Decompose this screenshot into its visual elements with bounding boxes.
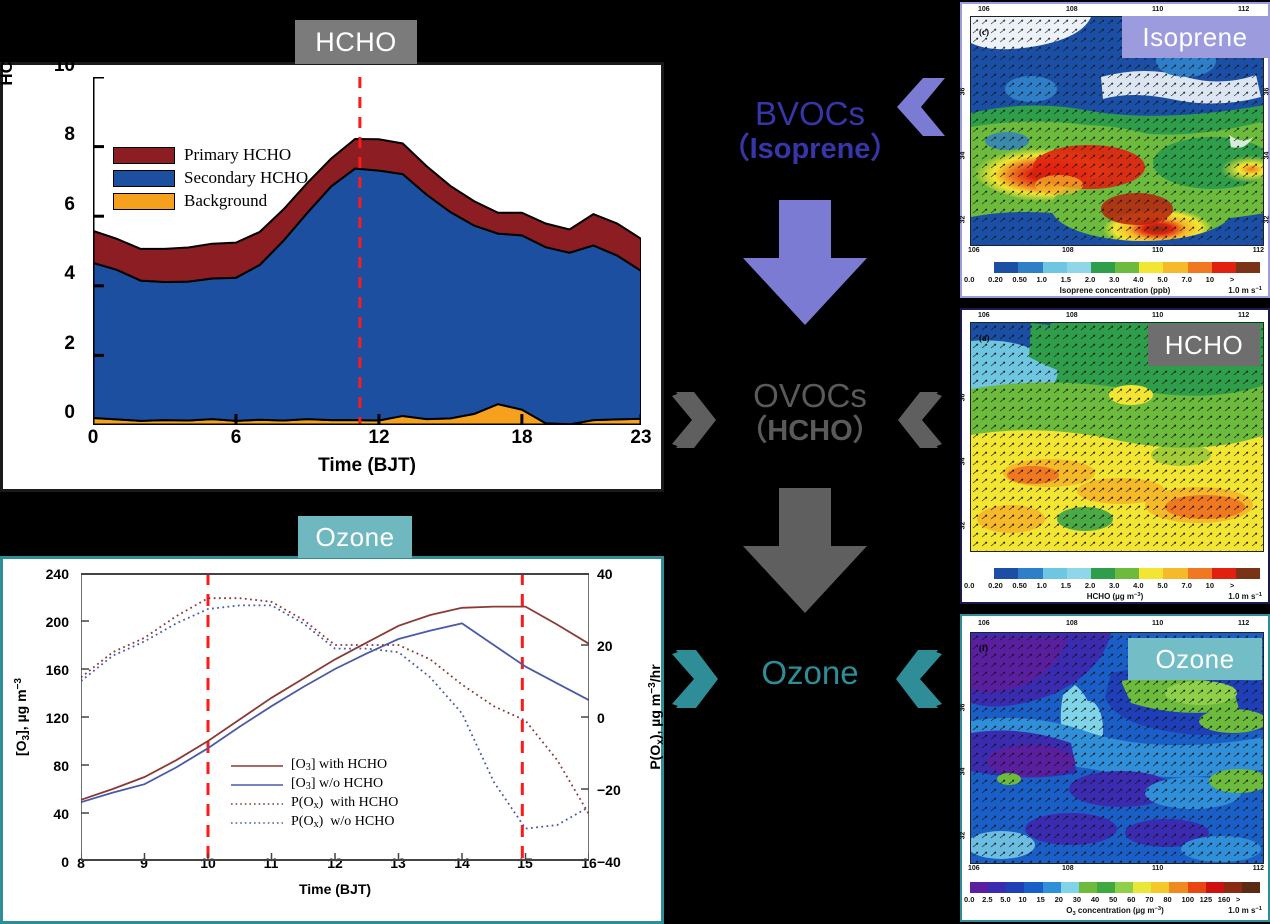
legend-key-pox-wo-hcho xyxy=(231,816,283,828)
isoprene-map-banner-label: Isoprene xyxy=(1142,22,1247,53)
cbar-hcho-swatch-3 xyxy=(1043,568,1067,579)
cbarlbl-ozone-6: 30 xyxy=(1073,895,1081,904)
cbarlbl-ozone-3: 10 xyxy=(1018,895,1026,904)
cbarlbl-isoprene-4: 1.5 xyxy=(1061,275,1071,284)
cbar-hcho-swatch-7 xyxy=(1139,568,1163,579)
cbarlbl-hcho-0: 0.0 xyxy=(964,581,974,590)
ozone-map-wind-ref: 1.0 m s−1 xyxy=(1228,906,1262,915)
hcho-ytick-6: 6 xyxy=(41,194,75,216)
ozone-map-banner-label: Ozone xyxy=(1155,644,1234,675)
hcho-xtick-12: 12 xyxy=(359,427,399,449)
cbarlbl-ozone-12: 100 xyxy=(1182,895,1195,904)
hcho-y-axis-title: HCHO concentration (µg m−3) xyxy=(0,0,17,117)
hcho-lat-36: 36 xyxy=(959,394,966,402)
legend-item-o3-wo-hcho: [O3] w/o HCHO xyxy=(231,774,398,793)
hcho-chart-banner-label: HCHO xyxy=(315,27,397,58)
cbar-ozone-swatch-1 xyxy=(988,882,1006,893)
cbar-isoprene-swatch-7 xyxy=(1139,262,1163,273)
cbarlbl-ozone-7: 40 xyxy=(1091,895,1099,904)
cbar-hcho-swatch-1 xyxy=(994,568,1018,579)
chevron-left-ozone-map-icon xyxy=(896,650,942,708)
cbar-hcho-swatch-5 xyxy=(1091,568,1115,579)
cbarlbl-hcho-10: 10 xyxy=(1206,581,1214,590)
hcho-xtick-6: 6 xyxy=(216,427,256,449)
hcho-ytick-4: 4 xyxy=(41,263,75,285)
ozone-diurnal-chart: [O3], µg m−3 P(Ox), µg m−3/hr Time (BJT)… xyxy=(0,556,664,924)
ozone-chart-banner-label: Ozone xyxy=(315,522,394,553)
ozone-lat-32: 32 xyxy=(959,832,966,840)
cbarlbl-ozone-4: 15 xyxy=(1037,895,1045,904)
ozone-ytick-120: 120 xyxy=(31,710,69,726)
hcho-xtick-23: 23 xyxy=(621,427,661,449)
cbarlbl-ozone-11: 80 xyxy=(1163,895,1171,904)
ozone-colorbar xyxy=(970,882,1260,893)
ozone-lat-34: 34 xyxy=(959,768,966,776)
cbarlbl-ozone-14: 160 xyxy=(1218,895,1231,904)
cbar-isoprene-swatch-5 xyxy=(1091,262,1115,273)
legend-label-primary-hcho: Primary HCHO xyxy=(184,145,291,165)
cbarlbl-ozone-1: 2.5 xyxy=(982,895,992,904)
ozone-ytick-240: 240 xyxy=(31,566,69,582)
chevron-right-hcho-icon xyxy=(672,392,716,448)
isoprene-wind-ref: 1.0 m s−1 xyxy=(1228,286,1262,295)
cbarlbl-ozone-15: > xyxy=(1236,895,1240,904)
ozone-x-axis-title: Time (BJT) xyxy=(81,881,589,897)
isoprene-lon-axis-top: 106 108 110 112 xyxy=(962,4,1268,16)
cbar-isoprene-swatch-11 xyxy=(1236,262,1260,273)
isoprene-lat-32: 32 xyxy=(959,216,966,224)
cbar-ozone-swatch-0 xyxy=(970,882,988,893)
ozone-ytick-40: 40 xyxy=(31,806,69,822)
cbar-isoprene-swatch-4 xyxy=(1067,262,1091,273)
cbar-ozone-swatch-10 xyxy=(1151,882,1169,893)
hcho-panel-tag: (a) xyxy=(979,333,990,343)
cbar-isoprene-swatch-8 xyxy=(1163,262,1187,273)
isoprene-lat-36: 36 xyxy=(959,88,966,96)
cbarlbl-hcho-11: > xyxy=(1230,581,1234,590)
legend-swatch-secondary-hcho xyxy=(113,170,175,187)
cbar-isoprene-swatch-3 xyxy=(1043,262,1067,273)
hcho-chart-banner: HCHO xyxy=(295,20,417,64)
hcho-xtick-18: 18 xyxy=(502,427,542,449)
ozone-lat-36: 36 xyxy=(959,704,966,712)
cbar-ozone-swatch-9 xyxy=(1133,882,1151,893)
cbar-hcho-swatch-10 xyxy=(1212,568,1236,579)
cbar-ozone-swatch-11 xyxy=(1169,882,1187,893)
legend-label-pox-wo-hcho: P(Ox) w/o HCHO xyxy=(291,814,394,830)
cbarlbl-hcho-2: 0.50 xyxy=(1012,581,1027,590)
hcho-x-axis-title: Time (BJT) xyxy=(93,455,641,477)
cbar-hcho-swatch-6 xyxy=(1115,568,1139,579)
isoprene-colorbar xyxy=(970,262,1260,273)
chevron-left-hcho-map-icon xyxy=(898,392,942,448)
ozone-ytick-160: 160 xyxy=(31,662,69,678)
flow-label-bvocs-line2: （Isoprene） xyxy=(665,133,955,165)
legend-label-pox-with-hcho: P(Ox) with HCHO xyxy=(291,795,398,811)
ozone-ytick-80: 80 xyxy=(31,758,69,774)
ozone-ytick-200: 200 xyxy=(31,614,69,630)
hcho-plot-area xyxy=(93,77,641,425)
isoprene-map-banner: Isoprene xyxy=(1122,16,1268,58)
hcho-ytick-2: 2 xyxy=(41,333,75,355)
figure-root: HCHO HCHO concentration (µg m−3) Time (B… xyxy=(0,0,1270,924)
hcho-area-svg xyxy=(93,77,641,425)
hcho-ytick-10: 10 xyxy=(41,55,75,77)
cbarlbl-hcho-8: 5.0 xyxy=(1157,581,1167,590)
cbar-hcho-swatch-2 xyxy=(1018,568,1042,579)
ozone-right-axis-title: P(Ox), µg m−3/hr xyxy=(647,642,663,792)
hcho-wind-ref: 1.0 m s−1 xyxy=(1228,592,1262,601)
cbarlbl-hcho-9: 7.0 xyxy=(1182,581,1192,590)
hcho-lat-32: 32 xyxy=(959,522,966,530)
cbarlbl-ozone-13: 125 xyxy=(1200,895,1213,904)
legend-item-o3-with-hcho: [O3] with HCHO xyxy=(231,755,398,774)
ozone-chart-banner: Ozone xyxy=(298,516,412,558)
ozone-y2tick-m20: −20 xyxy=(597,782,637,798)
hcho-ytick-0: 0 xyxy=(41,402,75,424)
ozone-y2tick-40: 40 xyxy=(597,566,637,582)
legend-swatch-background xyxy=(113,193,175,210)
legend-key-pox-with-hcho xyxy=(231,797,283,809)
cbar-ozone-swatch-12 xyxy=(1188,882,1206,893)
cbarlbl-ozone-2: 5.0 xyxy=(1000,895,1010,904)
ozone-y2tick-0: 0 xyxy=(597,710,637,726)
ozone-ytick-0: 0 xyxy=(31,854,69,870)
legend-key-o3-wo-hcho xyxy=(231,778,283,790)
cbar-isoprene-swatch-6 xyxy=(1115,262,1139,273)
arrow-down-bvoc-to-ovoc-icon xyxy=(743,200,867,325)
ozone-left-axis-title: [O3], µg m−3 xyxy=(13,657,29,777)
ozone-lon-axis-bottom: 106 108 110 112 xyxy=(962,865,1268,877)
ozone-legend: [O3] with HCHO [O3] w/o HCHO P(Ox) with … xyxy=(231,755,398,831)
legend-key-o3-with-hcho xyxy=(231,759,283,771)
isoprene-lon-axis-bottom: 106 108 110 112 xyxy=(962,247,1268,259)
cbarlbl-isoprene-6: 3.0 xyxy=(1109,275,1119,284)
cbarlbl-isoprene-0: 0.0 xyxy=(964,275,974,284)
hcho-xtick-0: 0 xyxy=(73,427,113,449)
isoprene-lat-34: 34 xyxy=(959,152,966,160)
cbarlbl-isoprene-2: 0.50 xyxy=(1012,275,1027,284)
cbar-ozone-swatch-13 xyxy=(1206,882,1224,893)
hcho-colorbar xyxy=(970,568,1260,579)
cbar-isoprene-swatch-0 xyxy=(970,262,994,273)
legend-swatch-primary-hcho xyxy=(113,147,175,164)
chevron-right-ozone-icon xyxy=(672,650,718,708)
cbar-isoprene-swatch-1 xyxy=(994,262,1018,273)
cbarlbl-isoprene-8: 5.0 xyxy=(1157,275,1167,284)
cbar-ozone-swatch-4 xyxy=(1043,882,1061,893)
cbarlbl-hcho-6: 3.0 xyxy=(1109,581,1119,590)
cbarlbl-hcho-4: 1.5 xyxy=(1061,581,1071,590)
legend-item-pox-wo-hcho: P(Ox) w/o HCHO xyxy=(231,812,398,831)
cbarlbl-hcho-3: 1.0 xyxy=(1037,581,1047,590)
cbarlbl-hcho-7: 4.0 xyxy=(1133,581,1143,590)
hcho-lat-34: 34 xyxy=(959,458,966,466)
ozone-map-banner: Ozone xyxy=(1128,638,1262,680)
cbarlbl-isoprene-5: 2.0 xyxy=(1085,275,1095,284)
legend-label-o3-wo-hcho: [O3] w/o HCHO xyxy=(291,776,383,792)
cbarlbl-isoprene-1: 0.20 xyxy=(988,275,1003,284)
ozone-lon-axis-top: 106 108 110 112 xyxy=(962,616,1268,630)
legend-item-primary-hcho: Primary HCHO xyxy=(113,145,308,165)
hcho-legend: Primary HCHO Secondary HCHO Background xyxy=(113,145,308,214)
cbar-ozone-swatch-7 xyxy=(1097,882,1115,893)
cbarlbl-ozone-0: 0.0 xyxy=(964,895,974,904)
hcho-map-banner-label: HCHO xyxy=(1165,330,1244,361)
cbarlbl-ozone-10: 70 xyxy=(1145,895,1153,904)
ozone-y2tick-20: 20 xyxy=(597,638,637,654)
legend-item-pox-with-hcho: P(Ox) with HCHO xyxy=(231,793,398,812)
cbar-ozone-swatch-2 xyxy=(1006,882,1024,893)
isoprene-colorbar-title: Isoprene concentration (ppb) xyxy=(962,286,1268,295)
cbar-isoprene-swatch-2 xyxy=(1018,262,1042,273)
cbarlbl-hcho-5: 2.0 xyxy=(1085,581,1095,590)
arrow-down-ovoc-to-ozone-icon xyxy=(743,488,867,613)
cbar-hcho-swatch-9 xyxy=(1188,568,1212,579)
ozone-panel-tag: (f) xyxy=(979,643,988,653)
cbar-hcho-swatch-8 xyxy=(1163,568,1187,579)
hcho-diurnal-chart: HCHO concentration (µg m−3) Time (BJT) 1… xyxy=(0,62,664,492)
isoprene-panel-tag: (c) xyxy=(979,27,989,37)
cbarlbl-isoprene-3: 1.0 xyxy=(1037,275,1047,284)
legend-label-o3-with-hcho: [O3] with HCHO xyxy=(291,757,387,773)
cbarlbl-isoprene-10: 10 xyxy=(1206,275,1214,284)
cbar-ozone-swatch-15 xyxy=(1242,882,1260,893)
legend-label-background: Background xyxy=(184,191,267,211)
hcho-map-banner: HCHO xyxy=(1148,324,1260,366)
cbarlbl-isoprene-7: 4.0 xyxy=(1133,275,1143,284)
hcho-ytick-8: 8 xyxy=(41,124,75,146)
ozone-colorbar-title: O3 concentration (µg m−3) xyxy=(962,906,1268,915)
cbar-ozone-swatch-6 xyxy=(1079,882,1097,893)
cbarlbl-ozone-5: 20 xyxy=(1055,895,1063,904)
legend-item-secondary-hcho: Secondary HCHO xyxy=(113,168,308,188)
cbarlbl-isoprene-11: > xyxy=(1230,275,1234,284)
hcho-lon-axis-top: 106 108 110 112 xyxy=(962,310,1268,322)
cbar-hcho-swatch-11 xyxy=(1236,568,1260,579)
cbarlbl-ozone-8: 50 xyxy=(1109,895,1117,904)
legend-label-secondary-hcho: Secondary HCHO xyxy=(184,168,308,188)
cbar-ozone-swatch-14 xyxy=(1224,882,1242,893)
cbar-ozone-swatch-8 xyxy=(1115,882,1133,893)
cbarlbl-ozone-9: 60 xyxy=(1127,895,1135,904)
cbar-ozone-swatch-3 xyxy=(1024,882,1042,893)
legend-item-background: Background xyxy=(113,191,308,211)
chevron-left-isoprene-icon xyxy=(897,78,945,136)
cbarlbl-hcho-1: 0.20 xyxy=(988,581,1003,590)
hcho-colorbar-title: HCHO (µg m−3) xyxy=(962,592,1268,601)
cbar-hcho-swatch-0 xyxy=(970,568,994,579)
cbar-isoprene-swatch-9 xyxy=(1188,262,1212,273)
cbar-ozone-swatch-5 xyxy=(1061,882,1079,893)
cbarlbl-isoprene-9: 7.0 xyxy=(1182,275,1192,284)
cbar-isoprene-swatch-10 xyxy=(1212,262,1236,273)
cbar-hcho-swatch-4 xyxy=(1067,568,1091,579)
